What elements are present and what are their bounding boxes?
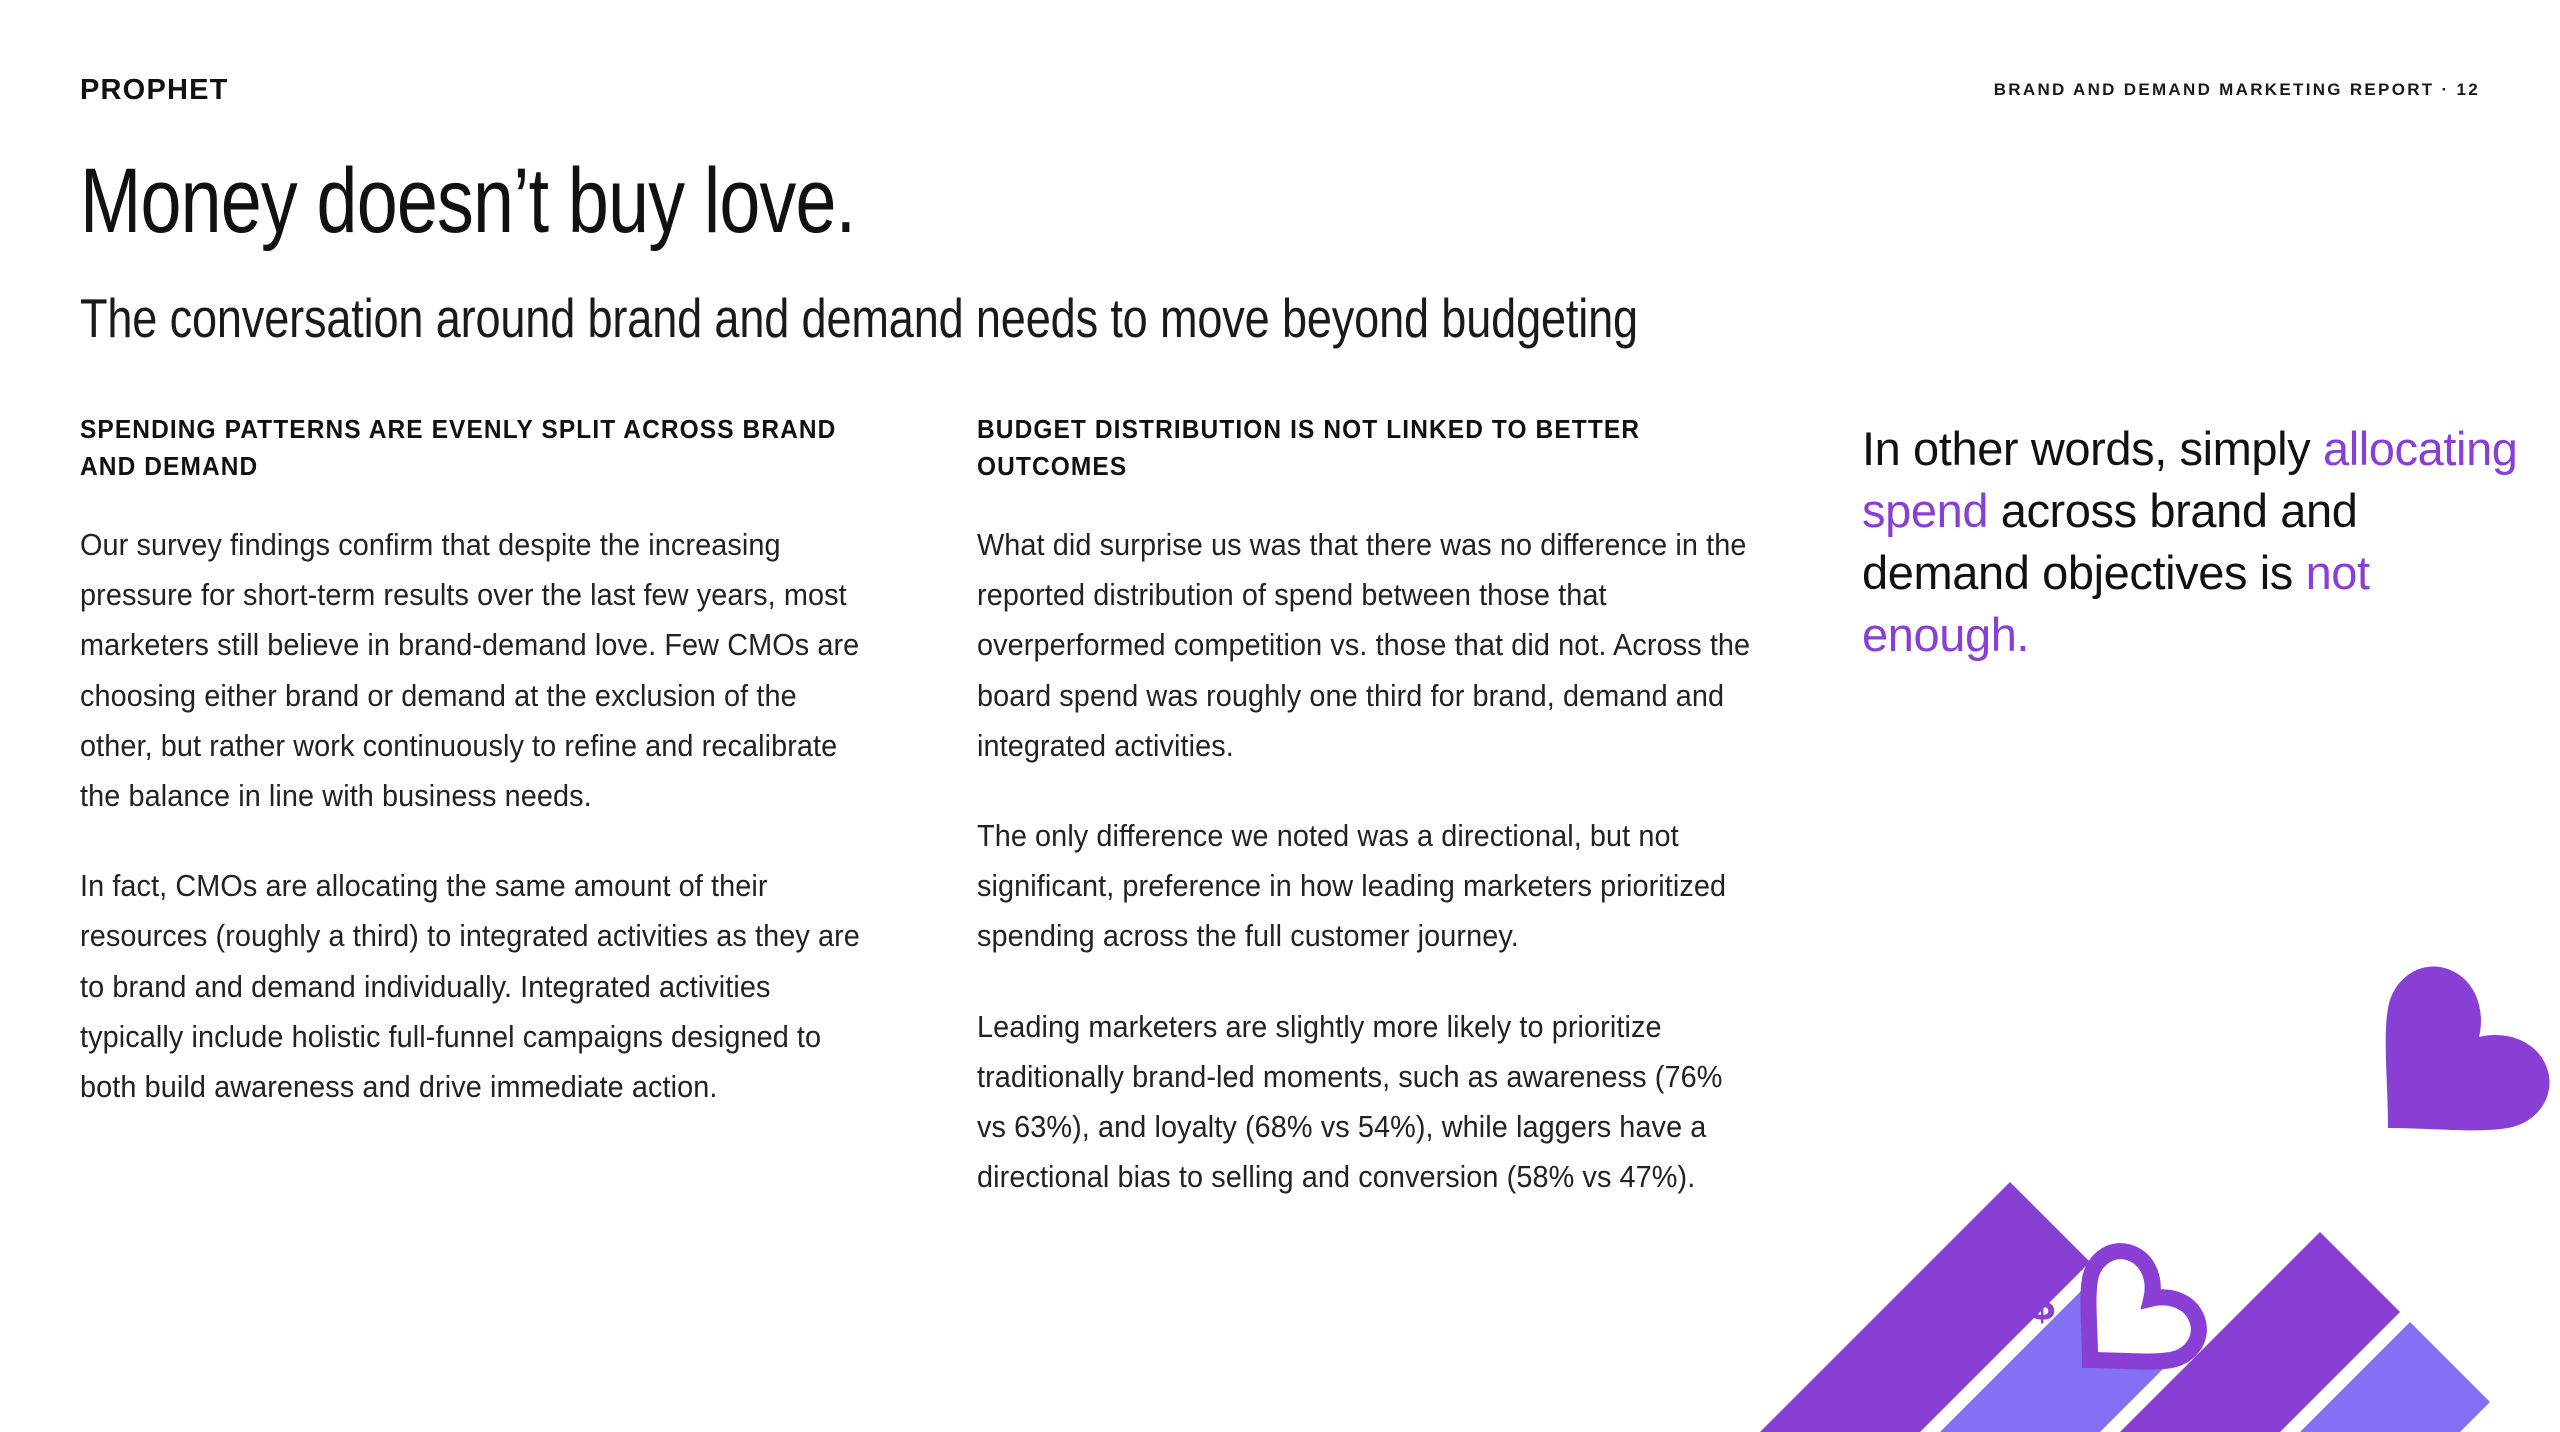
pull-quote: In other words, simply allocating spend … [1862, 418, 2522, 666]
dollar-sign-1: $ [2029, 1278, 2055, 1330]
graphic-bands [1760, 1182, 2490, 1432]
band-periwinkle-center [1970, 1322, 2490, 1432]
column-2-heading: BUDGET DISTRIBUTION IS NOT LINKED TO BET… [977, 412, 1783, 486]
heart-outline-icon-1 [2045, 1239, 2211, 1405]
page-subtitle: The conversation around brand and demand… [80, 290, 1638, 348]
column-2-paragraph-3: Leading marketers are slightly more like… [977, 1002, 1758, 1203]
page-title: Money doesn’t buy love. [80, 155, 855, 247]
diagonal-hearts-money-illustration: $ $ [1760, 932, 2560, 1432]
band-periwinkle-left [1790, 1272, 2180, 1432]
column-2-paragraph-2: The only difference we noted was a direc… [977, 811, 1758, 962]
prophet-logo: PROPHET [80, 74, 229, 107]
slide: PROPHET BRAND AND DEMAND MARKETING REPOR… [0, 0, 2560, 1432]
band-purple-left [1760, 1182, 2090, 1432]
content-column-1: SPENDING PATTERNS ARE EVENLY SPLIT ACROS… [80, 412, 920, 1112]
column-2-paragraph-1: What did surprise us was that there was … [977, 520, 1758, 771]
band-purple-center [1880, 1232, 2400, 1432]
pull-quote-text-1: In other words, simply [1862, 422, 2323, 475]
column-1-heading: SPENDING PATTERNS ARE EVENLY SPLIT ACROS… [80, 412, 886, 486]
column-1-paragraph-1: Our survey findings confirm that despite… [80, 520, 861, 821]
column-1-paragraph-2: In fact, CMOs are allocating the same am… [80, 861, 861, 1112]
slide-header: PROPHET BRAND AND DEMAND MARKETING REPOR… [80, 70, 2480, 110]
content-column-2: BUDGET DISTRIBUTION IS NOT LINKED TO BET… [977, 412, 1817, 1203]
report-label: BRAND AND DEMAND MARKETING REPORT · 12 [1994, 80, 2480, 100]
heart-filled-icon [2321, 948, 2560, 1195]
